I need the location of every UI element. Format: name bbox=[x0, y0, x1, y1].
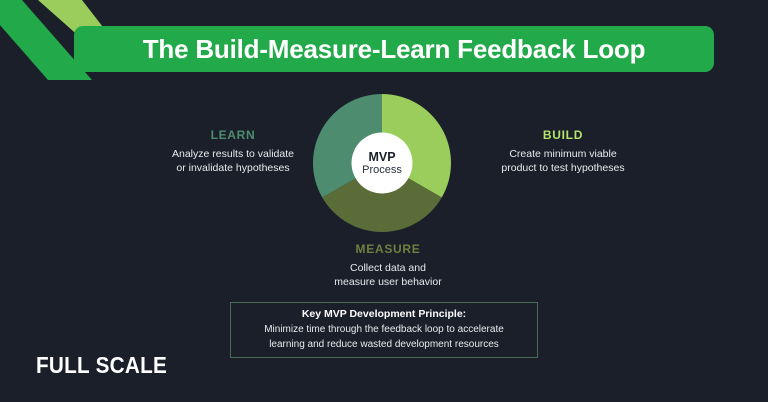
key-principle-box: Key MVP Development Principle: Minimize … bbox=[230, 302, 538, 358]
stage-title-measure: MEASURE bbox=[302, 242, 474, 256]
pie-center-hub bbox=[352, 133, 413, 194]
mvp-process-pie-chart: MVP Process bbox=[313, 94, 451, 232]
page-title: The Build-Measure-Learn Feedback Loop bbox=[143, 34, 646, 65]
pie-segments bbox=[313, 94, 451, 232]
stage-callout-learn: LEARN Analyze results to validate or inv… bbox=[148, 128, 318, 176]
stage-title-build: BUILD bbox=[478, 128, 648, 142]
page-title-banner: The Build-Measure-Learn Feedback Loop bbox=[74, 26, 714, 72]
brand-wordmark: FULL SCALE bbox=[36, 352, 167, 379]
key-principle-body: Minimize time through the feedback loop … bbox=[264, 323, 504, 351]
stage-description-learn: Analyze results to validate or invalidat… bbox=[148, 147, 318, 176]
stage-description-measure: Collect data and measure user behavior bbox=[302, 261, 474, 290]
infographic-canvas: The Build-Measure-Learn Feedback Loop MV… bbox=[0, 0, 768, 402]
stage-callout-measure: MEASURE Collect data and measure user be… bbox=[302, 242, 474, 290]
stage-callout-build: BUILD Create minimum viable product to t… bbox=[478, 128, 648, 176]
stage-title-learn: LEARN bbox=[148, 128, 318, 142]
stage-description-build: Create minimum viable product to test hy… bbox=[478, 147, 648, 176]
key-principle-heading: Key MVP Development Principle: bbox=[302, 308, 466, 320]
